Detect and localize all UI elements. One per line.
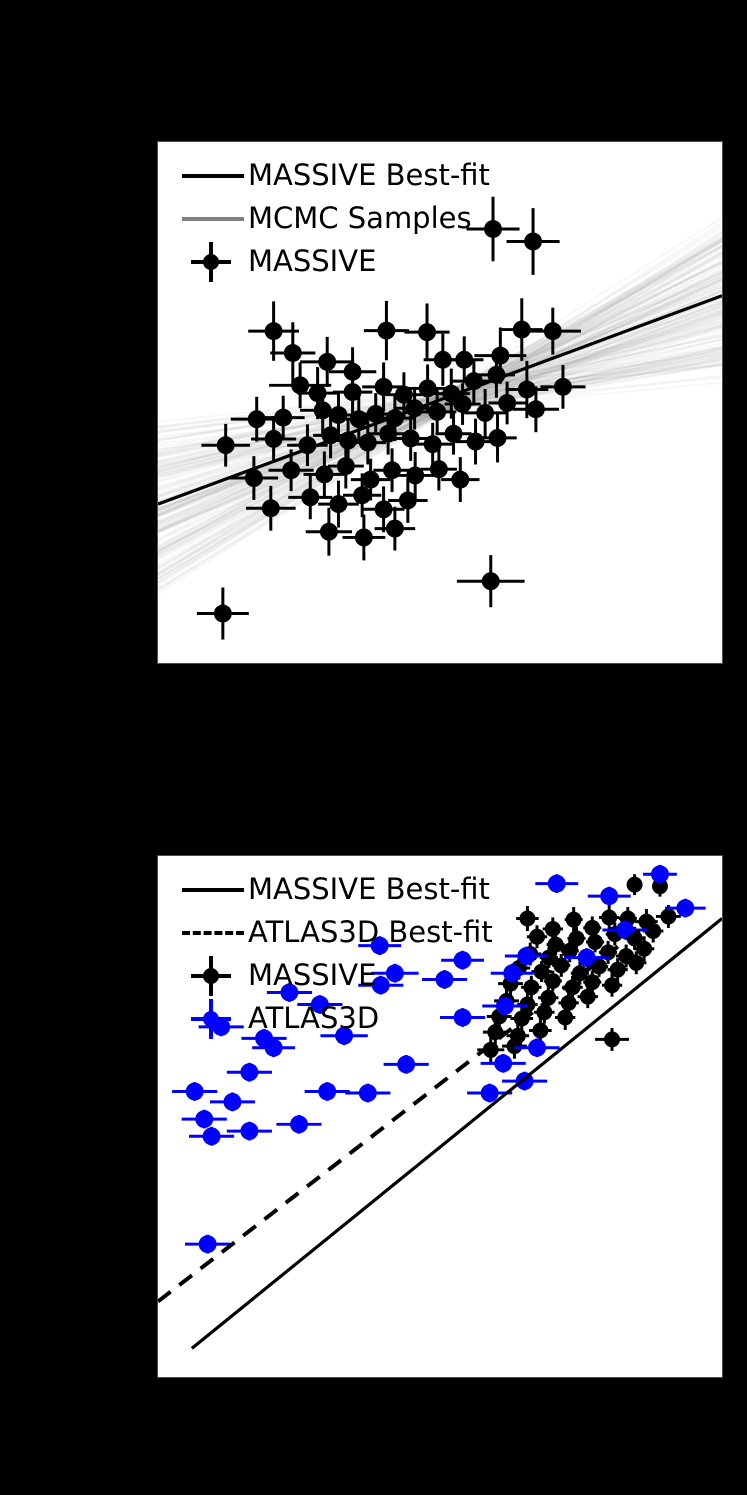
bottom-panel: MASSIVE Best-fit ATLAS3D Best-fit MASSIV… xyxy=(157,855,723,1378)
legend-label: MASSIVE Best-fit xyxy=(248,875,490,904)
legend-item-massive-points[interactable]: MASSIVE xyxy=(174,240,490,283)
legend-label: MASSIVE xyxy=(248,247,376,276)
legend-label: MASSIVE xyxy=(248,961,376,990)
legend-label: ATLAS3D Best-fit xyxy=(248,918,493,947)
legend-item-atlas3d-points[interactable]: ATLAS3D xyxy=(174,997,493,1040)
bottom-panel-legend: MASSIVE Best-fit ATLAS3D Best-fit MASSIV… xyxy=(174,868,493,1040)
errorbar-marker-icon xyxy=(174,954,248,997)
top-panel-legend: MASSIVE Best-fit MCMC Samples MASSIVE xyxy=(174,154,490,283)
figure-canvas: MASSIVE Best-fit MCMC Samples MASSIVE MA… xyxy=(0,0,747,1495)
top-panel: MASSIVE Best-fit MCMC Samples MASSIVE xyxy=(157,141,723,664)
legend-item-massive-bestfit[interactable]: MASSIVE Best-fit xyxy=(174,154,490,197)
legend-label: MASSIVE Best-fit xyxy=(248,161,490,190)
legend-item-massive-bestfit[interactable]: MASSIVE Best-fit xyxy=(174,868,493,911)
dashed-line-icon xyxy=(174,911,248,954)
legend-item-massive-points[interactable]: MASSIVE xyxy=(174,954,493,997)
gray-line-icon xyxy=(174,197,248,240)
errorbar-marker-icon xyxy=(174,997,248,1040)
legend-item-mcmc-samples[interactable]: MCMC Samples xyxy=(174,197,490,240)
legend-item-atlas3d-bestfit[interactable]: ATLAS3D Best-fit xyxy=(174,911,493,954)
legend-label: MCMC Samples xyxy=(248,204,472,233)
legend-label: ATLAS3D xyxy=(248,1004,379,1033)
errorbar-marker-icon xyxy=(174,240,248,283)
solid-line-icon xyxy=(174,154,248,197)
solid-line-icon xyxy=(174,868,248,911)
